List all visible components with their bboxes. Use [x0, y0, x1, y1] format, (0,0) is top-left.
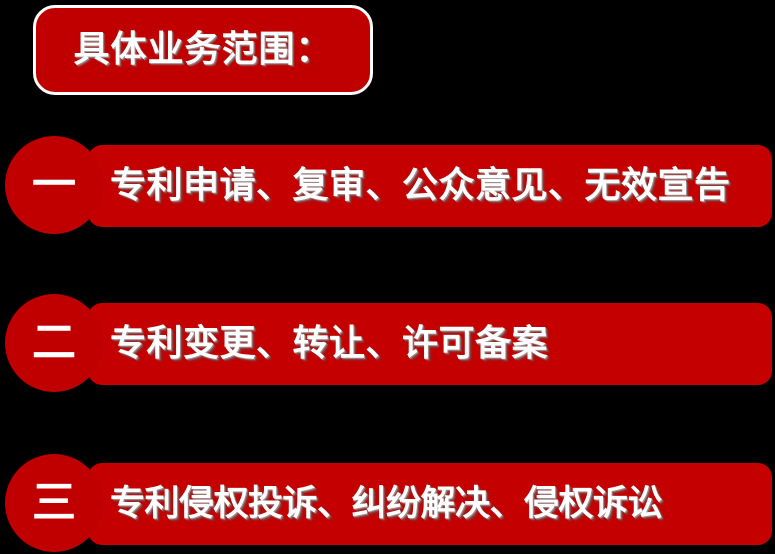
slide-canvas: 具体业务范围： 专利申请、复审、公众意见、无效宣告 一 专利变更、转让、许可备案…	[0, 0, 775, 549]
row-label-bar: 专利侵权投诉、纠纷解决、侵权诉讼	[88, 463, 772, 545]
list-item: 专利变更、转让、许可备案 二	[0, 294, 775, 394]
row-numeral-text: 一	[32, 163, 76, 207]
header-banner: 具体业务范围：	[33, 5, 373, 95]
row-numeral-badge: 三	[5, 454, 103, 552]
row-label-bar: 专利申请、复审、公众意见、无效宣告	[88, 145, 772, 227]
row-numeral-badge: 一	[5, 136, 103, 234]
list-item: 专利侵权投诉、纠纷解决、侵权诉讼 三	[0, 454, 775, 554]
row-label-text: 专利侵权投诉、纠纷解决、侵权诉讼	[110, 487, 662, 522]
row-label-bar: 专利变更、转让、许可备案	[88, 303, 772, 385]
row-label-text: 专利变更、转让、许可备案	[110, 326, 548, 362]
row-numeral-text: 二	[32, 321, 76, 365]
row-numeral-badge: 二	[5, 294, 103, 392]
row-numeral-text: 三	[32, 481, 76, 525]
row-label-text: 专利申请、复审、公众意见、无效宣告	[110, 168, 731, 204]
list-item: 专利申请、复审、公众意见、无效宣告 一	[0, 136, 775, 236]
page-title: 具体业务范围：	[73, 32, 332, 68]
